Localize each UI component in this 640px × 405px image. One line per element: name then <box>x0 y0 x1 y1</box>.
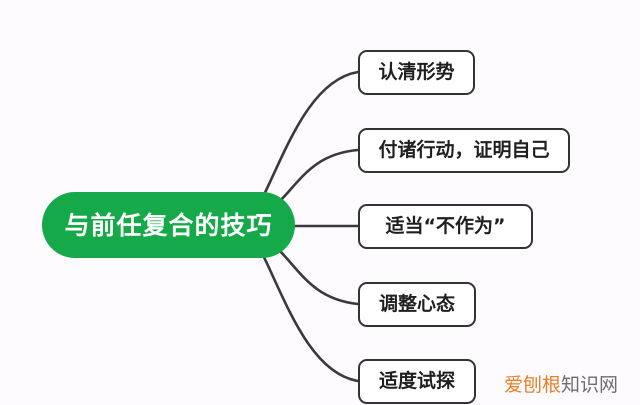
branch-node-4[interactable]: 调整心态 <box>358 282 476 327</box>
branch-node-1-label: 认清形势 <box>378 63 454 82</box>
connector-branch-5 <box>262 253 358 381</box>
branch-node-5-label: 适度试探 <box>379 372 455 391</box>
central-node[interactable]: 与前任复合的技巧 <box>42 192 295 258</box>
branch-node-2-label: 付诸行动，证明自己 <box>378 141 549 160</box>
branch-node-5[interactable]: 适度试探 <box>358 359 476 404</box>
branch-node-1[interactable]: 认清形势 <box>358 50 475 95</box>
branch-node-3-label: 适当“不作为” <box>386 217 506 236</box>
watermark-brand: 爱刨根 <box>504 374 561 396</box>
branch-node-3[interactable]: 适当“不作为” <box>358 204 533 249</box>
watermark: 爱刨根知识网 <box>504 376 618 395</box>
central-node-label: 与前任复合的技巧 <box>64 213 272 238</box>
connector-branch-4 <box>276 247 358 304</box>
branch-node-4-label: 调整心态 <box>379 295 455 314</box>
mindmap-canvas: 与前任复合的技巧 认清形势 付诸行动，证明自己 适当“不作为” 调整心态 适度试… <box>0 0 640 405</box>
watermark-suffix: 知识网 <box>561 374 618 396</box>
connector-branch-2 <box>276 150 358 205</box>
connector-branch-1 <box>262 72 358 199</box>
branch-node-2[interactable]: 付诸行动，证明自己 <box>358 128 570 173</box>
